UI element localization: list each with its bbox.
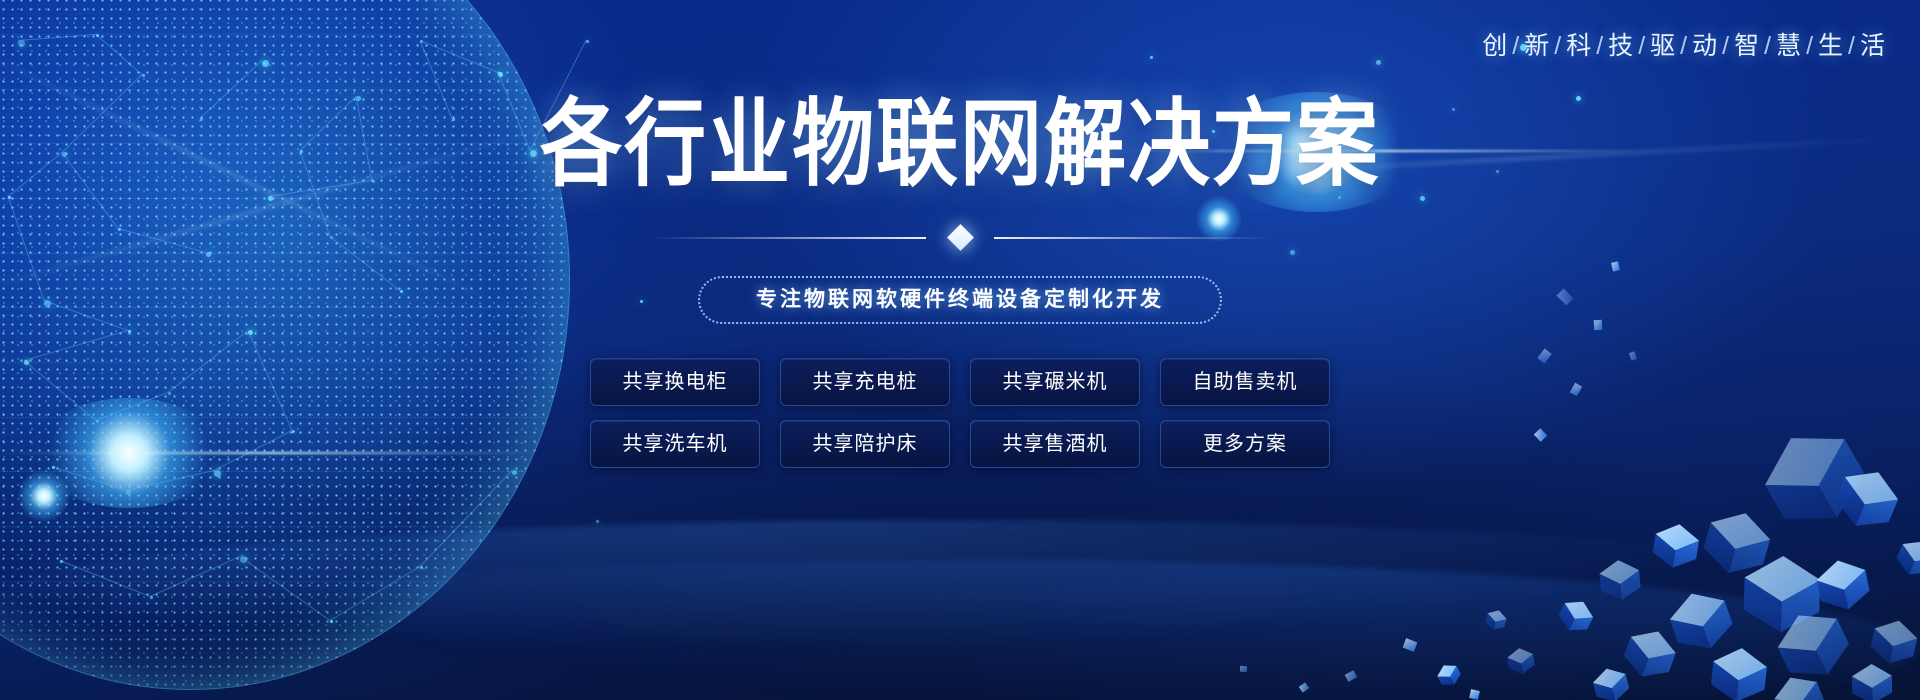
tagline-char: 动 xyxy=(1692,32,1718,60)
solution-button[interactable]: 共享换电柜 xyxy=(590,358,760,406)
tagline-separator: / xyxy=(1806,32,1814,60)
solution-button-row-2: 共享洗车机共享陪护床共享售酒机更多方案 xyxy=(460,420,1460,468)
tagline-separator: / xyxy=(1596,32,1604,60)
tagline: 创/新/科/技/驱/动/智/慧/生/活 xyxy=(1482,26,1886,62)
tagline-separator: / xyxy=(1848,32,1856,60)
solution-button[interactable]: 共享售酒机 xyxy=(970,420,1140,468)
solution-button[interactable]: 更多方案 xyxy=(1160,420,1330,468)
center-column: 各行业物联网解决方案 专注物联网软硬件终端设备定制化开发 共享换电柜共享充电桩共… xyxy=(460,0,1460,482)
tagline-separator: / xyxy=(1764,32,1772,60)
page-subtitle: 专注物联网软硬件终端设备定制化开发 xyxy=(698,276,1222,324)
banner-content: 创/新/科/技/驱/动/智/慧/生/活 各行业物联网解决方案 专注物联网软硬件终… xyxy=(0,0,1920,700)
page-title: 各行业物联网解决方案 xyxy=(460,97,1460,192)
banner: 创/新/科/技/驱/动/智/慧/生/活 各行业物联网解决方案 专注物联网软硬件终… xyxy=(0,0,1920,700)
tagline-separator: / xyxy=(1722,32,1730,60)
tagline-char: 创 xyxy=(1482,32,1508,60)
divider-line-right xyxy=(994,237,1270,239)
tagline-char: 科 xyxy=(1566,32,1592,60)
tagline-char: 智 xyxy=(1734,32,1760,60)
solution-button-row-1: 共享换电柜共享充电桩共享碾米机自助售卖机 xyxy=(460,358,1460,406)
tagline-char: 新 xyxy=(1524,32,1550,60)
solution-button[interactable]: 共享洗车机 xyxy=(590,420,760,468)
tagline-char: 技 xyxy=(1608,32,1634,60)
tagline-char: 生 xyxy=(1818,32,1844,60)
solution-button[interactable]: 自助售卖机 xyxy=(1160,358,1330,406)
tagline-separator: / xyxy=(1554,32,1562,60)
tagline-separator: / xyxy=(1512,32,1520,60)
tagline-char: 慧 xyxy=(1776,32,1802,60)
solution-button[interactable]: 共享充电桩 xyxy=(780,358,950,406)
tagline-separator: / xyxy=(1638,32,1646,60)
tagline-separator: / xyxy=(1680,32,1688,60)
title-divider xyxy=(650,226,1270,250)
divider-diamond-icon xyxy=(947,224,974,251)
solution-button[interactable]: 共享碾米机 xyxy=(970,358,1140,406)
solution-buttons: 共享换电柜共享充电桩共享碾米机自助售卖机 共享洗车机共享陪护床共享售酒机更多方案 xyxy=(460,358,1460,468)
solution-button[interactable]: 共享陪护床 xyxy=(780,420,950,468)
divider-line-left xyxy=(650,237,926,239)
tagline-char: 驱 xyxy=(1650,32,1676,60)
tagline-char: 活 xyxy=(1860,32,1886,60)
